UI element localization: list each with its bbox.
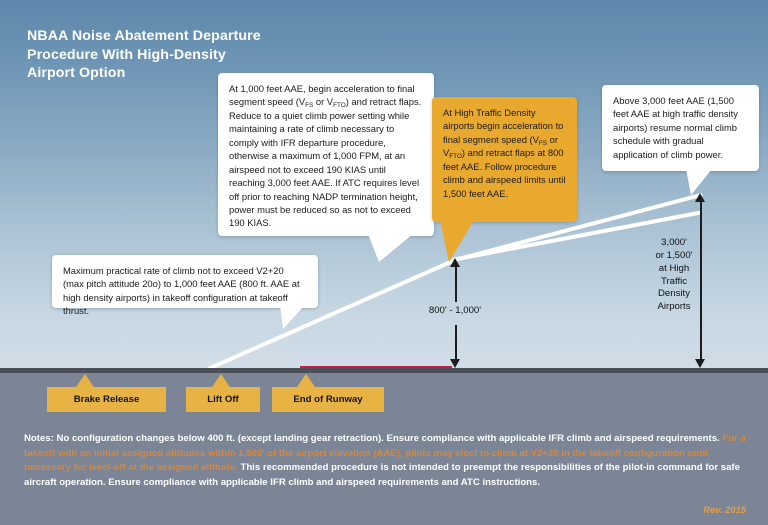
callout-climb-1000-aae: At 1,000 feet AAE, begin acceleration to… <box>218 73 434 236</box>
callout-max-rate-tail <box>280 306 304 329</box>
end-of-runway-pointer <box>297 374 315 387</box>
right-measure-arrow-down <box>695 359 705 368</box>
notes-part-1: Notes: No configuration changes below 40… <box>24 433 722 444</box>
right-measure-line <box>700 201 702 361</box>
brake-release-pointer <box>76 374 94 387</box>
callout-climb-1000-text: At 1,000 feet AAE, begin acceleration to… <box>229 83 421 228</box>
ground-tag-brake-release: Brake Release <box>47 387 166 412</box>
callout-max-rate-of-climb: Maximum practical rate of climb not to e… <box>52 255 318 308</box>
callout-high-traffic-text: At High Traffic Density airports begin a… <box>443 107 565 199</box>
center-measure-label: 800' - 1,000' <box>404 305 506 318</box>
lift-off-pointer <box>212 374 230 387</box>
callout-above-3000-text: Above 3,000 feet AAE (1,500 feet AAE at … <box>613 95 738 160</box>
center-measure-line-upper <box>455 266 457 302</box>
center-measure-line-lower <box>455 325 457 360</box>
ground-tag-lift-off: Lift Off <box>186 387 260 412</box>
callout-high-traffic-density: At High Traffic Density airports begin a… <box>432 97 577 222</box>
title-line-1: NBAA Noise Abatement Departure <box>27 27 447 46</box>
callout-above-3000-tail <box>686 169 712 195</box>
notes-block: Notes: No configuration changes below 40… <box>24 432 746 490</box>
callout-climb-1000-tail <box>368 234 413 262</box>
diagram-canvas: NBAA Noise Abatement Departure Procedure… <box>0 0 768 525</box>
callout-above-3000-aae: Above 3,000 feet AAE (1,500 feet AAE at … <box>602 85 759 171</box>
ground-tag-end-of-runway: End of Runway <box>272 387 384 412</box>
title-line-2: Procedure With High-Density <box>27 46 447 65</box>
callout-high-traffic-tail <box>440 220 474 262</box>
revision-label: Rev. 2015 <box>703 504 746 515</box>
right-measure-label: 3,000' or 1,500' at High Traffic Density… <box>652 237 696 314</box>
